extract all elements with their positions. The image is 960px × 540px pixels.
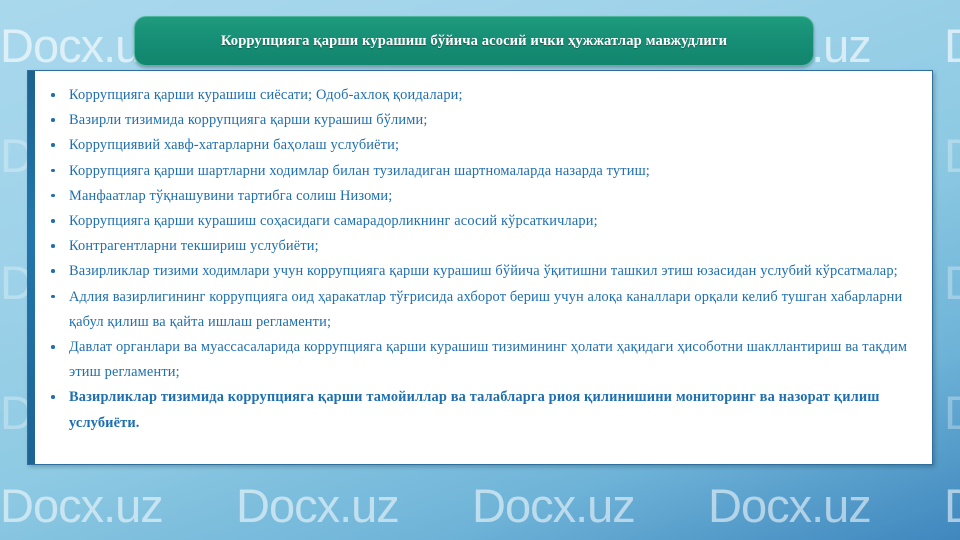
document-list: Коррупцияга қарши курашиш сиёсати; Одоб-… — [42, 83, 922, 436]
accent-bar — [28, 71, 35, 464]
list-item-label: Давлат органлари ва муассасаларида корру… — [69, 339, 907, 380]
content-panel: Коррупцияга қарши курашиш сиёсати; Одоб-… — [27, 70, 933, 465]
watermark-text: Docx.uz — [708, 478, 944, 533]
bullet-dot-icon — [51, 345, 55, 349]
slide-title: Коррупцияга қарши курашиш бўйича асосий … — [221, 33, 727, 50]
list-item: Давлат органлари ва муассасаларида корру… — [42, 335, 922, 385]
bullet-dot-icon — [51, 295, 55, 299]
watermark-text: Docx.uz — [472, 478, 708, 533]
list-item-label: Коррупцияга қарши шартларни ходимлар бил… — [69, 163, 650, 179]
list-item: Коррупцияга қарши курашиш сиёсати; Одоб-… — [42, 83, 922, 108]
watermark-text: Docx.uz — [944, 255, 960, 310]
list-item: Вазирликлар тизими ходимлари учун корруп… — [42, 259, 922, 284]
watermark-text: Docx.uz — [944, 128, 960, 183]
list-item-label: Коррупцияга қарши курашиш соҳасидаги сам… — [69, 213, 598, 229]
list-item: Контрагентларни текшириш услубиёти; — [42, 234, 922, 259]
list-item-label: Адлия вазирлигининг коррупцияга оид ҳара… — [69, 289, 902, 330]
list-item: Коррупциявий хавф-хатарларни баҳолаш усл… — [42, 133, 922, 158]
bullet-dot-icon — [51, 118, 55, 122]
list-item-label: Вазирли тизимида коррупцияга қарши кураш… — [69, 112, 428, 128]
list-item: Коррупцияга қарши шартларни ходимлар бил… — [42, 159, 922, 184]
watermark-text: Docx.uz — [944, 478, 960, 533]
list-item-label: Вазирликлар тизимида коррупцияга қарши т… — [69, 389, 880, 430]
slide-title-banner: Коррупцияга қарши курашиш бўйича асосий … — [134, 16, 814, 66]
watermark-text: Docx.uz — [0, 478, 236, 533]
bullet-dot-icon — [51, 269, 55, 273]
watermark-text: Docx.uz — [944, 385, 960, 440]
list-item: Вазирли тизимида коррупцияга қарши кураш… — [42, 108, 922, 133]
list-item-label: Манфаатлар тўқнашувини тартибга солиш Ни… — [69, 188, 392, 204]
bullet-dot-icon — [51, 219, 55, 223]
list-item: Коррупцияга қарши курашиш соҳасидаги сам… — [42, 209, 922, 234]
list-item-label: Коррупцияга қарши курашиш сиёсати; Одоб-… — [69, 87, 463, 103]
watermark-row: Docx.uz Docx.uz Docx.uz Docx.uz Docx.uz — [0, 478, 960, 533]
watermark-text: Docx.uz — [944, 18, 960, 73]
bullet-dot-icon — [51, 169, 55, 173]
list-item-label: Контрагентларни текшириш услубиёти; — [69, 238, 319, 254]
presentation-slide: Docx.uz Docx.uz Docx.uz Docx.uz Docx.uz … — [0, 0, 960, 540]
bullet-dot-icon — [51, 194, 55, 198]
bullet-dot-icon — [51, 244, 55, 248]
list-item: Адлия вазирлигининг коррупцияга оид ҳара… — [42, 285, 922, 335]
list-item: Вазирликлар тизимида коррупцияга қарши т… — [42, 385, 922, 435]
watermark-text: Docx.uz — [236, 478, 472, 533]
list-item: Манфаатлар тўқнашувини тартибга солиш Ни… — [42, 184, 922, 209]
bullet-dot-icon — [51, 395, 55, 399]
bullet-dot-icon — [51, 143, 55, 147]
list-item-label: Вазирликлар тизими ходимлари учун корруп… — [69, 263, 898, 279]
list-item-label: Коррупциявий хавф-хатарларни баҳолаш усл… — [69, 137, 399, 153]
bullet-dot-icon — [51, 93, 55, 97]
